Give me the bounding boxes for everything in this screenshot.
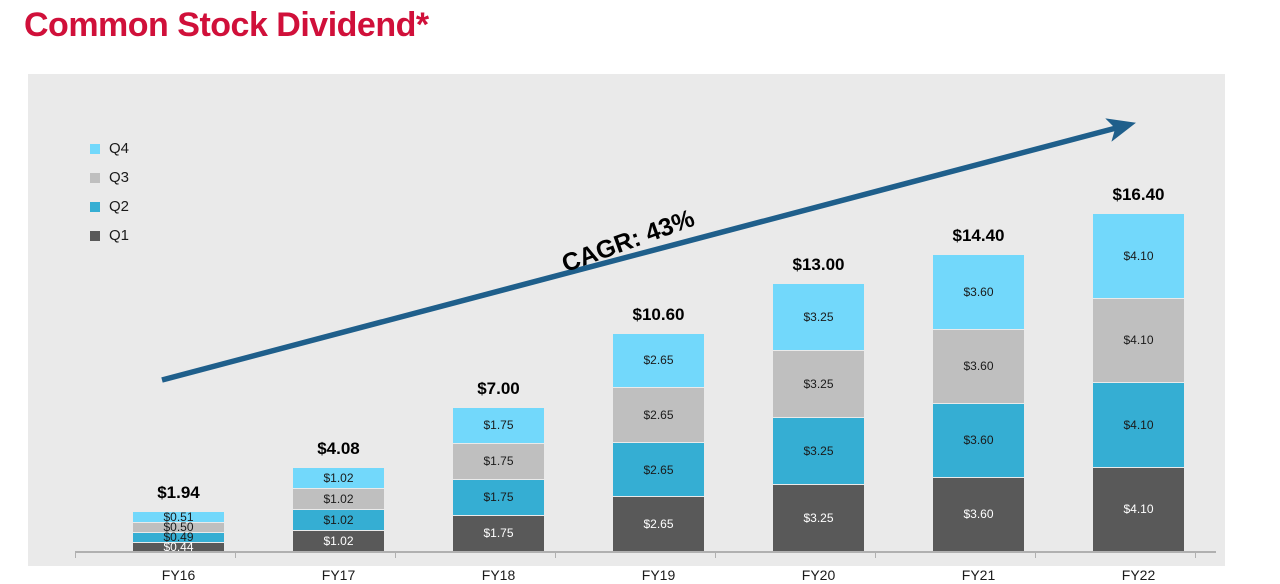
bar-segment-q1[interactable]: $0.44: [133, 542, 224, 551]
bar-total-label: $4.08: [293, 439, 384, 459]
bar-group-fy21[interactable]: $3.60$3.60$3.60$3.60$14.40FY21: [933, 74, 1024, 566]
bar-stack: $3.25$3.25$3.25$3.25: [773, 283, 864, 551]
bar-segment-value-label: $3.60: [963, 508, 993, 520]
bar-group-fy19[interactable]: $2.65$2.65$2.65$2.65$10.60FY19: [613, 74, 704, 566]
bar-segment-q4[interactable]: $2.65: [613, 333, 704, 388]
x-axis-tick: [715, 551, 716, 558]
bar-segment-value-label: $2.65: [643, 464, 673, 476]
bar-total-label: $10.60: [613, 305, 704, 325]
x-axis-line: [75, 551, 1216, 553]
bar-segment-value-label: $1.75: [483, 455, 513, 467]
page-title: Common Stock Dividend*: [24, 6, 429, 45]
bar-segment-q1[interactable]: $3.25: [773, 484, 864, 551]
bar-segment-q2[interactable]: $1.02: [293, 509, 384, 530]
bar-stack: $1.02$1.02$1.02$1.02: [293, 467, 384, 551]
bar-group-fy20[interactable]: $3.25$3.25$3.25$3.25$13.00FY20: [773, 74, 864, 566]
x-axis-category-label: FY21: [913, 567, 1044, 583]
bar-segment-value-label: $4.10: [1123, 250, 1153, 262]
bar-stack: $1.75$1.75$1.75$1.75: [453, 407, 544, 551]
legend-item-label: Q2: [109, 198, 129, 215]
bar-segment-value-label: $3.60: [963, 360, 993, 372]
legend-swatch-icon: [90, 173, 100, 183]
plot-area: Q4Q3Q2Q1 CAGR: 43% $0.51$0.50$0.49$0.44$…: [28, 74, 1225, 566]
bar-group-fy18[interactable]: $1.75$1.75$1.75$1.75$7.00FY18: [453, 74, 544, 566]
bar-segment-q3[interactable]: $1.75: [453, 443, 544, 479]
bar-segment-value-label: $2.65: [643, 518, 673, 530]
bar-segment-value-label: $3.60: [963, 434, 993, 446]
bar-segment-q2[interactable]: $4.10: [1093, 382, 1184, 466]
bar-segment-q3[interactable]: $2.65: [613, 387, 704, 442]
bar-segment-q3[interactable]: $1.02: [293, 488, 384, 509]
x-axis-category-label: FY20: [753, 567, 884, 583]
bar-segment-q2[interactable]: $3.60: [933, 403, 1024, 477]
bar-segment-q3[interactable]: $4.10: [1093, 298, 1184, 382]
x-axis-tick: [235, 551, 236, 558]
x-axis-category-label: FY16: [113, 567, 244, 583]
bar-segment-value-label: $1.75: [483, 419, 513, 431]
x-axis-category-label: FY18: [433, 567, 564, 583]
bar-stack: $2.65$2.65$2.65$2.65: [613, 333, 704, 551]
legend-item-label: Q1: [109, 227, 129, 244]
bar-segment-q2[interactable]: $2.65: [613, 442, 704, 497]
bar-segment-value-label: $3.60: [963, 286, 993, 298]
bar-segment-q1[interactable]: $3.60: [933, 477, 1024, 551]
bar-total-label: $1.94: [133, 483, 224, 503]
bar-segment-value-label: $1.02: [323, 472, 353, 484]
bar-stack: $0.51$0.50$0.49$0.44: [133, 511, 224, 551]
bar-total-label: $7.00: [453, 379, 544, 399]
x-axis-tick: [555, 551, 556, 558]
bar-total-label: $13.00: [773, 255, 864, 275]
bar-segment-value-label: $1.75: [483, 491, 513, 503]
bar-segment-value-label: $4.10: [1123, 419, 1153, 431]
bar-segment-value-label: $2.65: [643, 409, 673, 421]
bar-segment-value-label: $3.25: [803, 512, 833, 524]
bar-segment-q2[interactable]: $3.25: [773, 417, 864, 484]
bar-segment-value-label: $3.25: [803, 378, 833, 390]
bar-segment-value-label: $1.75: [483, 527, 513, 539]
x-axis-tick: [1035, 551, 1036, 558]
x-axis-tick: [875, 551, 876, 558]
x-axis-category-label: FY19: [593, 567, 724, 583]
bar-segment-value-label: $4.10: [1123, 334, 1153, 346]
bar-segment-q4[interactable]: $3.60: [933, 254, 1024, 328]
x-axis-tick: [75, 551, 76, 558]
legend-swatch-icon: [90, 231, 100, 241]
bar-segment-value-label: $1.02: [323, 514, 353, 526]
bar-segment-value-label: $3.25: [803, 311, 833, 323]
legend-item-label: Q4: [109, 140, 129, 157]
legend-swatch-icon: [90, 144, 100, 154]
bar-segment-q4[interactable]: $3.25: [773, 283, 864, 350]
bar-stack: $4.10$4.10$4.10$4.10: [1093, 213, 1184, 551]
x-axis-category-label: FY22: [1073, 567, 1204, 583]
bar-segment-q1[interactable]: $2.65: [613, 496, 704, 551]
x-axis-category-label: FY17: [273, 567, 404, 583]
bar-segment-q3[interactable]: $3.25: [773, 350, 864, 417]
bar-segment-q4[interactable]: $1.02: [293, 467, 384, 488]
bar-segment-value-label: $4.10: [1123, 503, 1153, 515]
chart-panel: Q4Q3Q2Q1 CAGR: 43% $0.51$0.50$0.49$0.44$…: [28, 74, 1225, 566]
bar-segment-value-label: $1.02: [323, 493, 353, 505]
legend-swatch-icon: [90, 202, 100, 212]
legend-item-label: Q3: [109, 169, 129, 186]
x-axis-tick: [1195, 551, 1196, 558]
bar-group-fy17[interactable]: $1.02$1.02$1.02$1.02$4.08FY17: [293, 74, 384, 566]
bar-segment-q1[interactable]: $1.75: [453, 515, 544, 551]
bar-segment-q3[interactable]: $3.60: [933, 329, 1024, 403]
bar-group-fy22[interactable]: $4.10$4.10$4.10$4.10$16.40FY22: [1093, 74, 1184, 566]
bar-segment-q4[interactable]: $1.75: [453, 407, 544, 443]
bar-total-label: $14.40: [933, 226, 1024, 246]
x-axis-tick: [395, 551, 396, 558]
bar-segment-q1[interactable]: $1.02: [293, 530, 384, 551]
bar-segment-q1[interactable]: $4.10: [1093, 467, 1184, 551]
bar-segment-value-label: $1.02: [323, 535, 353, 547]
bar-segment-q4[interactable]: $4.10: [1093, 213, 1184, 297]
bar-group-fy16[interactable]: $0.51$0.50$0.49$0.44$1.94FY16: [133, 74, 224, 566]
bar-stack: $3.60$3.60$3.60$3.60: [933, 254, 1024, 551]
bar-segment-value-label: $3.25: [803, 445, 833, 457]
bar-segment-value-label: $2.65: [643, 354, 673, 366]
bar-total-label: $16.40: [1093, 185, 1184, 205]
bar-segment-q2[interactable]: $1.75: [453, 479, 544, 515]
